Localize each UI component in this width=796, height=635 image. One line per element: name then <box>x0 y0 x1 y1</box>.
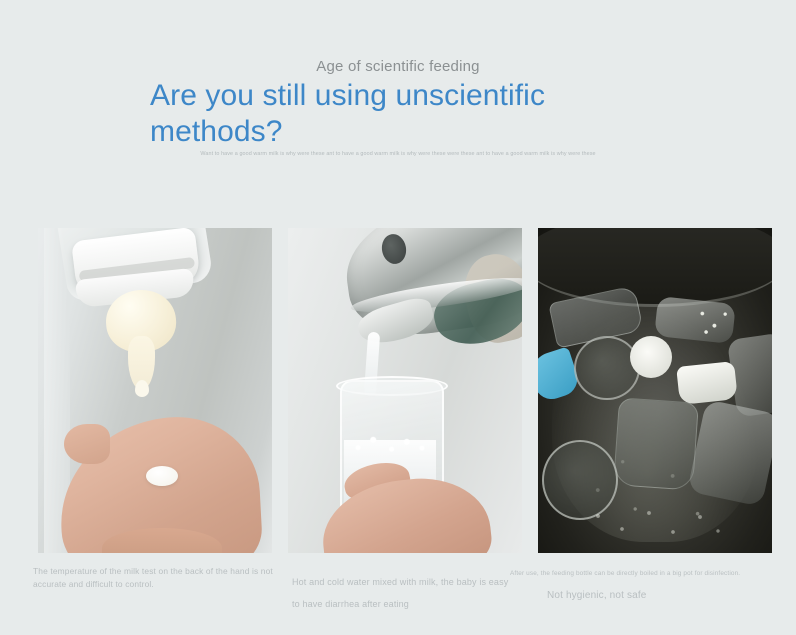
promo-page: Age of scientific feeding Are you still … <box>0 0 796 635</box>
bottle-part-b <box>654 296 736 344</box>
bottle-jar-large <box>613 397 699 490</box>
bottle-lid-white <box>630 336 672 378</box>
pot-rim <box>538 228 772 307</box>
water-bubbles <box>348 432 432 458</box>
photo-panel-kettle-pouring <box>288 228 522 553</box>
water-foam <box>580 496 730 546</box>
photo-kettle-pouring-into-jar <box>288 228 522 553</box>
hand-knuckle <box>64 424 110 464</box>
caption-panel-3-large: Not hygienic, not safe <box>547 589 777 603</box>
page-title: Are you still using unscientific methods… <box>150 78 680 150</box>
milk-spot-on-hand <box>146 466 178 486</box>
photo-milk-dripping-on-hand <box>38 228 272 553</box>
eyebrow-text: Age of scientific feeding <box>0 58 796 75</box>
photo-bottles-boiling-in-pot <box>538 228 772 553</box>
caption-panel-2: Hot and cold water mixed with milk, the … <box>292 571 514 615</box>
bottle-cup-a <box>574 336 640 400</box>
caption-panel-3-small: After use, the feeding bottle can be dir… <box>510 569 780 579</box>
photo-panel-boiling-pot <box>538 228 772 553</box>
milk-drop <box>135 380 149 397</box>
caption-panel-1: The temperature of the milk test on the … <box>33 565 283 591</box>
subcopy-text: Want to have a good warm milk is why wer… <box>198 150 598 160</box>
bottle-cap-white <box>676 361 738 405</box>
photo-strip <box>0 228 796 558</box>
photo-panel-milk-on-hand <box>38 228 272 553</box>
